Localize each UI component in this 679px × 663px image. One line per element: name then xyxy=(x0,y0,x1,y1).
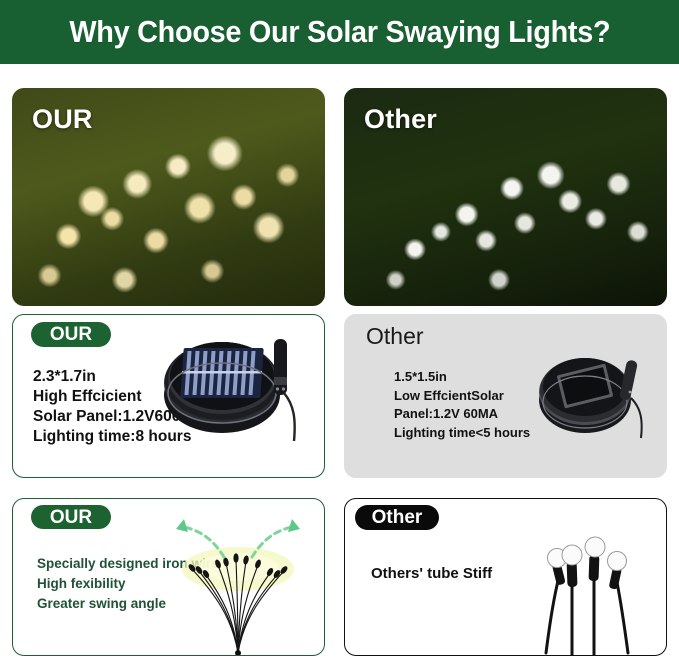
header-banner: Why Choose Our Solar Swaying Lights? xyxy=(0,0,679,64)
spec-text-other: 1.5*1.5in Low EffcientSolar Panel:1.2V 6… xyxy=(394,368,530,442)
spec-line: Low EffcientSolar xyxy=(394,387,530,406)
page-title: Why Choose Our Solar Swaying Lights? xyxy=(69,14,610,50)
small-solar-panel-disc xyxy=(531,342,653,442)
badge-other: Other xyxy=(355,505,439,530)
flexible-swaying-wire-illustration xyxy=(158,507,318,655)
wire-card-our: OUR Specially designed iron wire High fe… xyxy=(12,498,325,656)
photo-panel-our: OUR xyxy=(12,88,325,306)
photo-label-our: OUR xyxy=(32,104,93,135)
wire-text-other: Others' tube Stiff xyxy=(371,565,492,582)
photo-panel-other: Other xyxy=(344,88,667,306)
spec-line: Panel:1.2V 60MA xyxy=(394,405,530,424)
large-solar-panel-disc xyxy=(156,323,306,443)
badge-our: OUR xyxy=(31,505,111,529)
photo-label-other: Other xyxy=(364,104,437,135)
badge-our: OUR xyxy=(31,322,111,347)
spec-line: 1.5*1.5in xyxy=(394,368,530,387)
spec-line: Lighting time<5 hours xyxy=(394,424,530,443)
spec-card-our: OUR 2.3*1.7in High Effcicient Solar Pane… xyxy=(12,314,325,478)
infographic-page: Why Choose Our Solar Swaying Lights? OUR… xyxy=(0,0,679,663)
label-other: Other xyxy=(366,323,424,350)
wire-card-other: Other Others' tube Stiff xyxy=(344,498,667,656)
stiff-tube-bulbs-illustration xyxy=(506,525,656,655)
spec-card-other: Other 1.5*1.5in Low EffcientSolar Panel:… xyxy=(344,314,667,478)
